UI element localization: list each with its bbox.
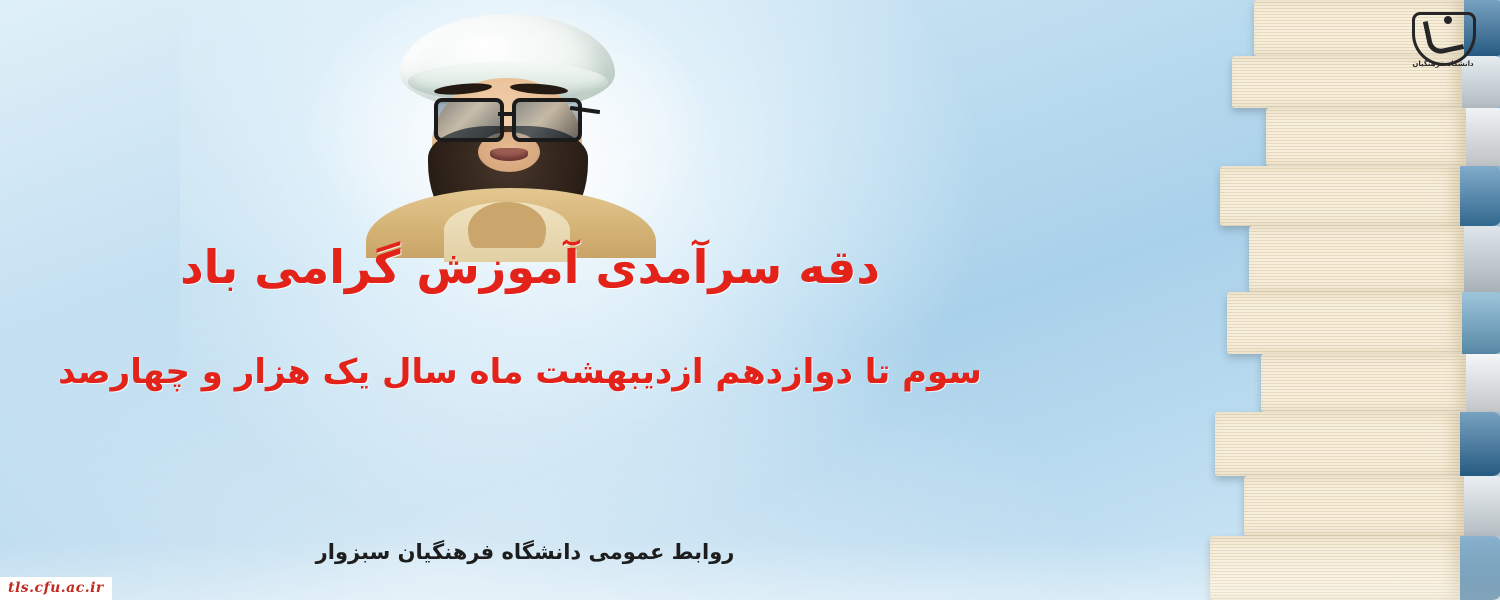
lens-right bbox=[512, 98, 582, 142]
lens-left bbox=[434, 98, 504, 142]
page-title: دقه سرآمدی آموزش گرامی باد bbox=[40, 240, 1020, 294]
book-spine bbox=[1466, 108, 1500, 166]
book-pages bbox=[1227, 292, 1462, 354]
book-pages bbox=[1261, 354, 1466, 412]
book-spine bbox=[1460, 166, 1500, 226]
event-banner: دانشگاه فرهنگیان دقه سرآمدی آموزش گرامی … bbox=[0, 0, 1500, 600]
book-spine bbox=[1462, 292, 1500, 354]
book-pages bbox=[1249, 226, 1464, 292]
book-pages bbox=[1220, 166, 1460, 226]
book-stack bbox=[980, 0, 1500, 600]
portrait-of-cleric bbox=[340, 6, 670, 241]
book-pages bbox=[1266, 108, 1466, 166]
book-pages bbox=[1215, 412, 1460, 476]
book bbox=[1227, 292, 1500, 354]
site-url-badge: tls.cfu.ac.ir bbox=[0, 577, 112, 600]
mouth-shape bbox=[490, 148, 528, 161]
book-spine bbox=[1466, 354, 1500, 412]
book bbox=[1215, 412, 1500, 476]
event-date-line: سوم تا دوازدهم ازدیبهشت ماه سال یک هزار … bbox=[20, 352, 1020, 392]
book-spine bbox=[1464, 226, 1500, 292]
book-spine bbox=[1464, 476, 1500, 536]
glasses-bridge bbox=[498, 112, 516, 116]
book-pages bbox=[1244, 476, 1464, 536]
book-spine bbox=[1460, 412, 1500, 476]
book bbox=[1244, 476, 1500, 536]
book bbox=[1266, 108, 1500, 166]
book-spine bbox=[1460, 536, 1500, 600]
logo-dot bbox=[1444, 16, 1452, 24]
logo-caption: دانشگاه فرهنگیان bbox=[1400, 60, 1486, 68]
book bbox=[1210, 536, 1500, 600]
book bbox=[1249, 226, 1500, 292]
footer-credit: روابط عمومی دانشگاه فرهنگیان سبزوار bbox=[20, 540, 1030, 564]
book-pages bbox=[1210, 536, 1460, 600]
book bbox=[1261, 354, 1500, 412]
glasses-icon bbox=[428, 94, 596, 138]
book bbox=[1220, 166, 1500, 226]
university-logo: دانشگاه فرهنگیان bbox=[1404, 10, 1482, 82]
